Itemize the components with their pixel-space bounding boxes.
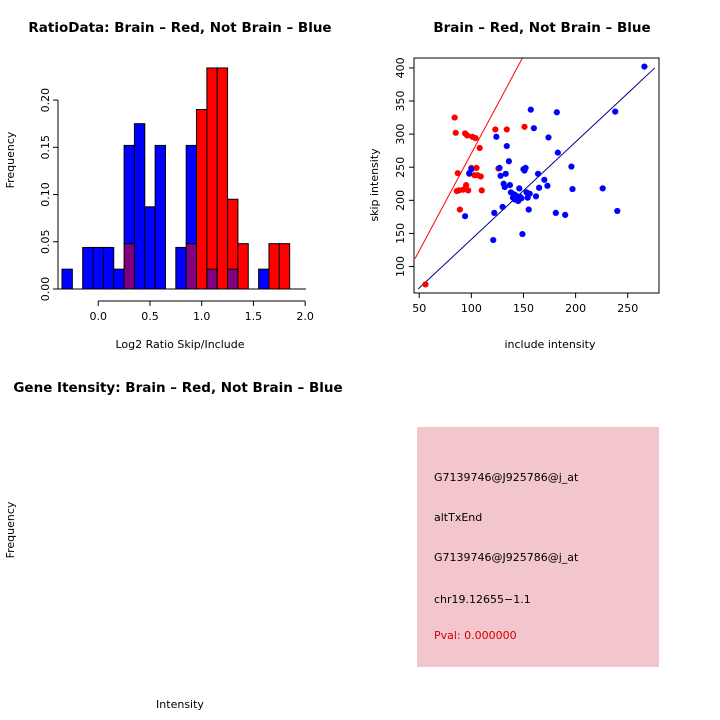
scatter-point-not-brain xyxy=(504,143,510,149)
scatter-point-brain xyxy=(478,173,484,179)
scatter-point-not-brain xyxy=(533,193,539,199)
scatter-point-brain xyxy=(452,114,458,120)
scatter-point-not-brain xyxy=(641,64,647,70)
x-axis-tick-label: 0.5 xyxy=(141,310,159,323)
y-axis-tick-label: 0.05 xyxy=(39,230,52,255)
gene-histogram-title: Gene Itensity: Brain – Red, Not Brain – … xyxy=(13,380,342,396)
panel-gene-histogram: Gene Itensity: Brain – Red, Not Brain – … xyxy=(0,360,360,720)
histogram-bar-overlap xyxy=(186,244,196,289)
histogram-bar-not-brain xyxy=(186,145,196,243)
scatter-xlabel: include intensity xyxy=(504,338,596,351)
info-line-pval: Pval: 0.000000 xyxy=(434,629,517,642)
scatter-svg: Brain – Red, Not Brain – Blue skip inten… xyxy=(360,0,720,360)
info-line-locus: chr19.12655−1.1 xyxy=(434,593,531,606)
histogram-bar-not-brain xyxy=(134,124,144,289)
scatter-point-brain xyxy=(504,126,510,132)
ratio-histogram-bars xyxy=(62,68,290,289)
scatter-point-brain xyxy=(473,165,479,171)
histogram-bar-brain xyxy=(207,68,217,269)
scatter-point-brain xyxy=(477,145,483,151)
y-axis-tick-label: 0.20 xyxy=(39,88,52,113)
scatter-point-not-brain xyxy=(503,171,509,177)
histogram-bar-brain xyxy=(217,68,227,289)
scatter-point-not-brain xyxy=(496,165,502,171)
y-axis-tick-label: 300 xyxy=(394,124,407,145)
scatter-point-not-brain xyxy=(568,163,574,169)
panel-scatter: Brain – Red, Not Brain – Blue skip inten… xyxy=(360,0,720,360)
scatter-point-brain xyxy=(479,187,485,193)
histogram-bar-not-brain xyxy=(83,247,93,289)
scatter-point-not-brain xyxy=(555,150,561,156)
histogram-bar-not-brain xyxy=(155,145,165,289)
histogram-bar-not-brain xyxy=(259,269,269,289)
panel-ratio-histogram: RatioData: Brain – Red, Not Brain – Blue… xyxy=(0,0,360,360)
x-axis-tick-label: 100 xyxy=(461,302,482,315)
gene-histogram-xlabel: Intensity xyxy=(156,698,204,711)
info-line-event-type: altTxEnd xyxy=(434,511,482,524)
ratio-histogram-ylabel: Frequency xyxy=(4,131,17,188)
y-axis-tick-label: 200 xyxy=(394,190,407,211)
scatter-point-not-brain xyxy=(536,185,542,191)
y-axis-tick-label: 100 xyxy=(394,256,407,277)
histogram-bar-overlap xyxy=(228,269,238,289)
scatter-fit-line-brain-fit xyxy=(415,56,523,259)
y-axis-tick-label: 400 xyxy=(394,57,407,78)
histogram-bar-brain xyxy=(238,244,248,289)
histogram-bar-not-brain xyxy=(62,269,72,289)
scatter-point-brain xyxy=(472,135,478,141)
scatter-point-not-brain xyxy=(507,182,513,188)
histogram-bar-not-brain xyxy=(145,207,155,289)
scatter-point-brain xyxy=(453,130,459,136)
scatter-point-not-brain xyxy=(500,204,506,210)
scatter-plot-area xyxy=(415,56,655,289)
y-axis-tick-label: 150 xyxy=(394,223,407,244)
ratio-histogram-xlabel: Log2 Ratio Skip/Include xyxy=(115,338,244,351)
scatter-point-not-brain xyxy=(531,125,537,131)
scatter-point-brain xyxy=(422,281,428,287)
histogram-bar-brain xyxy=(279,244,289,289)
x-axis-tick-label: 0.0 xyxy=(89,310,107,323)
scatter-clip-group xyxy=(415,56,655,289)
scatter-point-not-brain xyxy=(600,185,606,191)
x-axis-tick-label: 250 xyxy=(617,302,638,315)
scatter-point-not-brain xyxy=(562,212,568,218)
plot-page: RatioData: Brain – Red, Not Brain – Blue… xyxy=(0,0,720,720)
scatter-point-not-brain xyxy=(462,213,468,219)
ratio-histogram-svg: RatioData: Brain – Red, Not Brain – Blue… xyxy=(0,0,360,360)
scatter-point-brain xyxy=(464,132,470,138)
gene-histogram-ylabel: Frequency xyxy=(4,501,17,558)
scatter-title: Brain – Red, Not Brain – Blue xyxy=(433,20,650,36)
histogram-bar-not-brain xyxy=(124,145,134,243)
x-axis-tick-label: 1.5 xyxy=(245,310,263,323)
scatter-fit-line-not-brain-fit xyxy=(418,68,655,289)
ratio-histogram-title: RatioData: Brain – Red, Not Brain – Blue xyxy=(28,20,331,36)
histogram-bar-not-brain xyxy=(114,269,124,289)
scatter-point-brain xyxy=(521,124,527,130)
scatter-point-not-brain xyxy=(493,134,499,140)
info-line-probeset-id-2: G7139746@J925786@j_at xyxy=(434,551,578,564)
scatter-point-not-brain xyxy=(554,109,560,115)
scatter-point-brain xyxy=(457,206,463,212)
x-axis-tick-label: 1.0 xyxy=(193,310,211,323)
histogram-bar-overlap xyxy=(124,244,134,289)
x-axis-tick-label: 150 xyxy=(513,302,534,315)
scatter-point-not-brain xyxy=(553,210,559,216)
info-line-probeset-id: G7139746@J925786@j_at xyxy=(434,471,578,484)
scatter-point-not-brain xyxy=(468,166,474,172)
histogram-bar-not-brain xyxy=(176,247,186,289)
scatter-point-not-brain xyxy=(526,206,532,212)
scatter-point-brain xyxy=(455,170,461,176)
y-axis-tick-label: 0.15 xyxy=(39,135,52,160)
scatter-point-not-brain xyxy=(614,208,620,214)
gene-info-panel: G7139746@J925786@j_at altTxEnd G7139746@… xyxy=(417,427,659,667)
histogram-bar-overlap xyxy=(207,269,217,289)
scatter-point-not-brain xyxy=(506,158,512,164)
scatter-point-brain xyxy=(492,126,498,132)
scatter-point-not-brain xyxy=(527,191,533,197)
scatter-axes: 10015020025030035040050100150200250 xyxy=(394,57,659,315)
y-axis-tick-label: 250 xyxy=(394,157,407,178)
scatter-point-not-brain xyxy=(519,231,525,237)
scatter-point-not-brain xyxy=(541,177,547,183)
scatter-point-not-brain xyxy=(518,195,524,201)
scatter-point-not-brain xyxy=(516,185,522,191)
scatter-point-not-brain xyxy=(528,107,534,113)
x-axis-tick-label: 200 xyxy=(565,302,586,315)
histogram-bar-brain xyxy=(228,199,238,269)
scatter-point-not-brain xyxy=(491,210,497,216)
scatter-point-brain xyxy=(463,182,469,188)
x-axis-tick-label: 50 xyxy=(412,302,426,315)
histogram-bar-not-brain xyxy=(93,247,103,289)
x-axis-tick-label: 2.0 xyxy=(296,310,314,323)
scatter-point-not-brain xyxy=(490,237,496,243)
y-axis-tick-label: 350 xyxy=(394,91,407,112)
scatter-point-not-brain xyxy=(544,183,550,189)
scatter-point-not-brain xyxy=(535,171,541,177)
scatter-ylabel: skip intensity xyxy=(368,148,381,222)
y-axis-tick-label: 0.00 xyxy=(39,277,52,302)
histogram-bar-brain xyxy=(269,244,279,289)
gene-histogram-svg: Gene Itensity: Brain – Red, Not Brain – … xyxy=(0,360,360,720)
scatter-point-not-brain xyxy=(522,165,528,171)
histogram-bar-not-brain xyxy=(103,247,113,289)
scatter-point-not-brain xyxy=(612,109,618,115)
histogram-bar-brain xyxy=(197,110,207,289)
scatter-point-not-brain xyxy=(569,186,575,192)
scatter-point-brain xyxy=(465,187,471,193)
y-axis-tick-label: 0.10 xyxy=(39,182,52,207)
scatter-point-not-brain xyxy=(545,134,551,140)
